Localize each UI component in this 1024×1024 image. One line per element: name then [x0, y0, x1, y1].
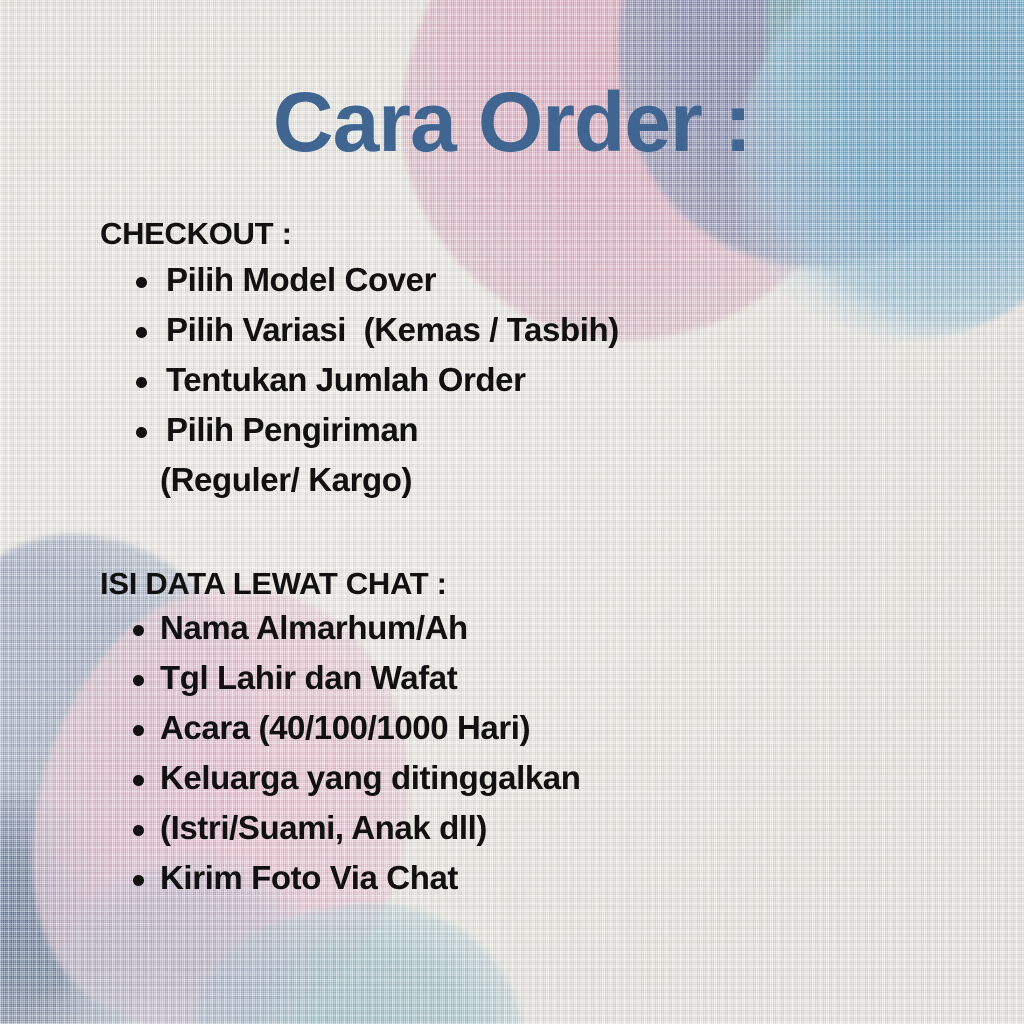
- list-item: Keluarga yang ditinggalkan: [100, 761, 581, 794]
- list-item: Tgl Lahir dan Wafat: [100, 661, 581, 694]
- section-isi-data: ISI DATA LEWAT CHAT : Nama Almarhum/Ah T…: [100, 568, 581, 911]
- list-item: Nama Almarhum/Ah: [100, 611, 581, 644]
- list-item: (Istri/Suami, Anak dll): [100, 811, 581, 844]
- section-isi-data-heading: ISI DATA LEWAT CHAT :: [100, 568, 581, 599]
- poster-canvas: Cara Order : CHECKOUT : Pilih Model Cove…: [0, 0, 1024, 1024]
- section-checkout: CHECKOUT : Pilih Model Cover Pilih Varia…: [100, 218, 619, 513]
- list-item: Pilih Model Cover: [100, 263, 619, 296]
- list-item: Pilih Pengiriman: [100, 413, 619, 446]
- list-item: Kirim Foto Via Chat: [100, 861, 581, 894]
- section-isi-data-list: Nama Almarhum/Ah Tgl Lahir dan Wafat Aca…: [100, 611, 581, 894]
- poster-content: Cara Order : CHECKOUT : Pilih Model Cove…: [0, 0, 1024, 1024]
- list-item: Pilih Variasi (Kemas / Tasbih): [100, 313, 619, 346]
- section-checkout-list: Pilih Model Cover Pilih Variasi (Kemas /…: [100, 263, 619, 496]
- list-item-continuation: (Reguler/ Kargo): [100, 463, 619, 496]
- page-title: Cara Order :: [0, 78, 1024, 166]
- section-checkout-heading: CHECKOUT :: [100, 218, 619, 249]
- list-item: Tentukan Jumlah Order: [100, 363, 619, 396]
- list-item: Acara (40/100/1000 Hari): [100, 711, 581, 744]
